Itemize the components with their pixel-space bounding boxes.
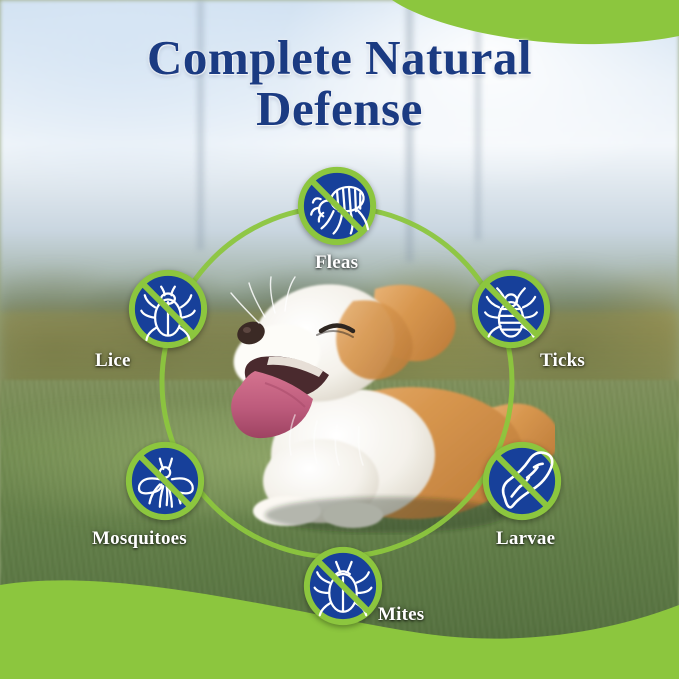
no-mosquito-icon [122, 438, 208, 524]
badge-lice[interactable] [125, 266, 211, 352]
no-mite-icon [300, 543, 386, 629]
badge-mites[interactable] [300, 543, 386, 629]
badge-label-larvae: Larvae [496, 528, 555, 550]
badge-mosquitoes[interactable] [122, 438, 208, 524]
badge-label-lice: Lice [95, 350, 131, 372]
marketing-infographic: Fleas Ticks [0, 0, 679, 679]
no-tick-icon [468, 266, 554, 352]
badge-fleas[interactable] [294, 163, 380, 249]
badge-ticks[interactable] [468, 266, 554, 352]
page-title: Complete Natural Defense [0, 32, 679, 135]
no-larva-icon [479, 438, 565, 524]
no-louse-icon [125, 266, 211, 352]
page-title-line-2: Defense [0, 83, 679, 134]
badge-larvae[interactable] [479, 438, 565, 524]
page-title-line-1: Complete Natural [147, 30, 532, 85]
badge-label-mites: Mites [378, 604, 424, 626]
badge-label-ticks: Ticks [540, 350, 585, 372]
badge-label-mosquitoes: Mosquitoes [92, 528, 187, 550]
no-flea-icon [294, 163, 380, 249]
badge-label-fleas: Fleas [315, 252, 358, 274]
